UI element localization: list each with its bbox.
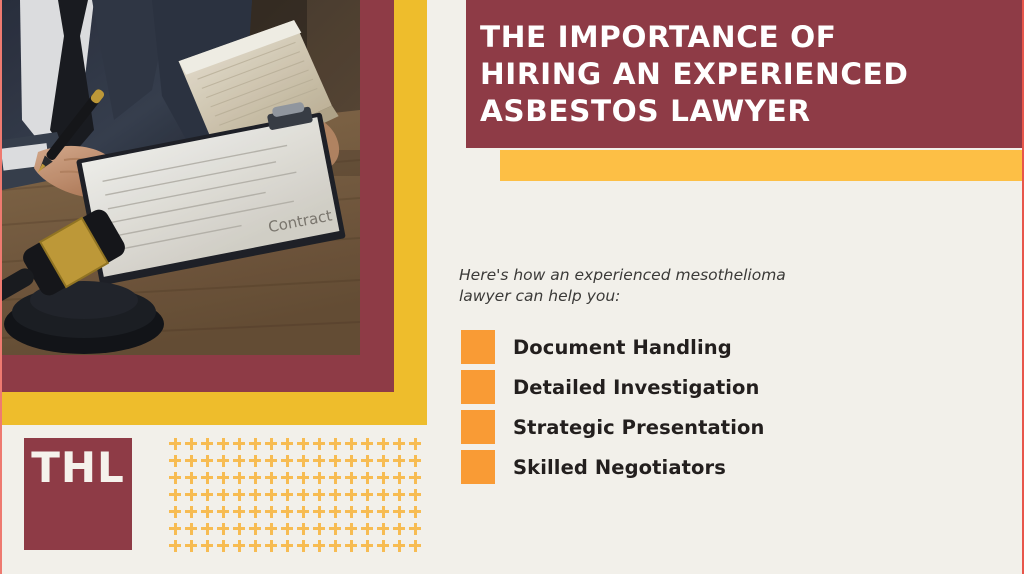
list-item: Strategic Presentation: [461, 407, 921, 447]
plus-icon: [312, 488, 328, 505]
plus-icon: [168, 488, 184, 505]
plus-icon: [360, 522, 376, 539]
plus-icon: [408, 437, 424, 454]
plus-icon: [168, 437, 184, 454]
plus-icon: [296, 505, 312, 522]
plus-icon: [360, 454, 376, 471]
plus-icon: [360, 505, 376, 522]
plus-icon: [248, 505, 264, 522]
plus-icon: [232, 437, 248, 454]
plus-icon: [392, 454, 408, 471]
plus-icon: [376, 488, 392, 505]
plus-icon: [296, 488, 312, 505]
thl-logo: THL: [24, 438, 132, 550]
plus-icon: [296, 539, 312, 556]
plus-icon: [200, 505, 216, 522]
bullet-square-icon: [461, 330, 495, 364]
plus-icon: [312, 505, 328, 522]
plus-icon: [392, 539, 408, 556]
plus-icon: [216, 539, 232, 556]
plus-icon: [168, 522, 184, 539]
plus-icon: [264, 539, 280, 556]
bullet-square-icon: [461, 450, 495, 484]
plus-icon: [216, 488, 232, 505]
plus-icon: [184, 522, 200, 539]
plus-icon: [296, 522, 312, 539]
plus-icon: [280, 488, 296, 505]
benefits-list: Document HandlingDetailed InvestigationS…: [461, 327, 921, 487]
plus-icon: [392, 522, 408, 539]
plus-icon: [392, 471, 408, 488]
plus-icon: [392, 488, 408, 505]
thl-logo-text: THL: [24, 442, 132, 494]
plus-icon: [328, 471, 344, 488]
plus-icon: [232, 471, 248, 488]
plus-icon: [344, 539, 360, 556]
plus-icon: [264, 454, 280, 471]
plus-icon: [344, 471, 360, 488]
plus-icon: [248, 522, 264, 539]
plus-icon: [328, 539, 344, 556]
plus-icon: [184, 505, 200, 522]
plus-icon: [328, 488, 344, 505]
list-item-label: Strategic Presentation: [513, 416, 765, 439]
plus-icon: [264, 437, 280, 454]
plus-icon: [376, 522, 392, 539]
plus-icon: [184, 454, 200, 471]
plus-icon: [376, 454, 392, 471]
plus-icon: [328, 522, 344, 539]
plus-icon: [376, 437, 392, 454]
lawyer-photo: Contract: [2, 0, 360, 355]
list-item: Document Handling: [461, 327, 921, 367]
plus-icon: [392, 505, 408, 522]
title-accent-bar: [500, 150, 1024, 181]
plus-icon: [184, 471, 200, 488]
plus-icon: [376, 505, 392, 522]
plus-icon: [280, 471, 296, 488]
plus-icon: [344, 522, 360, 539]
plus-icon: [360, 488, 376, 505]
list-item-label: Document Handling: [513, 336, 732, 359]
list-item-label: Skilled Negotiators: [513, 456, 726, 479]
plus-icon: [408, 488, 424, 505]
plus-icon: [232, 454, 248, 471]
plus-icon: [280, 437, 296, 454]
plus-icon: [408, 454, 424, 471]
list-item: Skilled Negotiators: [461, 447, 921, 487]
plus-icon: [168, 454, 184, 471]
plus-icon: [296, 454, 312, 471]
plus-icon: [232, 539, 248, 556]
infographic-canvas: Contract THL: [0, 0, 1024, 574]
plus-icon: [264, 505, 280, 522]
plus-pattern-decoration: [168, 437, 424, 556]
plus-icon: [280, 522, 296, 539]
plus-icon: [184, 539, 200, 556]
plus-icon: [264, 522, 280, 539]
plus-icon: [280, 454, 296, 471]
plus-icon: [232, 488, 248, 505]
plus-icon: [248, 454, 264, 471]
plus-icon: [232, 522, 248, 539]
plus-icon: [200, 522, 216, 539]
plus-icon: [328, 454, 344, 471]
plus-icon: [408, 522, 424, 539]
plus-icon: [360, 471, 376, 488]
plus-icon: [200, 471, 216, 488]
plus-icon: [216, 454, 232, 471]
list-item-label: Detailed Investigation: [513, 376, 760, 399]
plus-icon: [312, 471, 328, 488]
plus-icon: [408, 539, 424, 556]
plus-icon: [248, 471, 264, 488]
plus-icon: [264, 471, 280, 488]
plus-icon: [200, 437, 216, 454]
plus-icon: [344, 488, 360, 505]
plus-icon: [312, 437, 328, 454]
plus-icon: [168, 539, 184, 556]
plus-icon: [296, 437, 312, 454]
plus-icon: [360, 437, 376, 454]
plus-icon: [216, 522, 232, 539]
plus-icon: [248, 437, 264, 454]
plus-icon: [360, 539, 376, 556]
plus-icon: [328, 505, 344, 522]
plus-icon: [248, 488, 264, 505]
plus-icon: [168, 471, 184, 488]
plus-icon: [392, 437, 408, 454]
plus-icon: [344, 505, 360, 522]
plus-icon: [312, 539, 328, 556]
plus-icon: [232, 505, 248, 522]
plus-icon: [344, 437, 360, 454]
plus-icon: [296, 471, 312, 488]
plus-icon: [168, 505, 184, 522]
list-item: Detailed Investigation: [461, 367, 921, 407]
plus-icon: [216, 437, 232, 454]
plus-icon: [184, 437, 200, 454]
plus-icon: [216, 505, 232, 522]
plus-icon: [200, 539, 216, 556]
plus-icon: [344, 454, 360, 471]
plus-icon: [408, 471, 424, 488]
plus-icon: [216, 471, 232, 488]
plus-icon: [200, 488, 216, 505]
plus-icon: [408, 505, 424, 522]
plus-icon: [264, 488, 280, 505]
plus-icon: [376, 471, 392, 488]
plus-icon: [280, 539, 296, 556]
subtitle-text: Here's how an experienced mesothelioma l…: [459, 265, 889, 307]
plus-icon: [328, 437, 344, 454]
plus-icon: [184, 488, 200, 505]
plus-icon: [312, 522, 328, 539]
page-title: THE IMPORTANCE OF HIRING AN EXPERIENCED …: [480, 19, 1000, 130]
plus-icon: [376, 539, 392, 556]
plus-icon: [248, 539, 264, 556]
bullet-square-icon: [461, 410, 495, 444]
plus-icon: [312, 454, 328, 471]
plus-icon: [280, 505, 296, 522]
plus-icon: [200, 454, 216, 471]
bullet-square-icon: [461, 370, 495, 404]
